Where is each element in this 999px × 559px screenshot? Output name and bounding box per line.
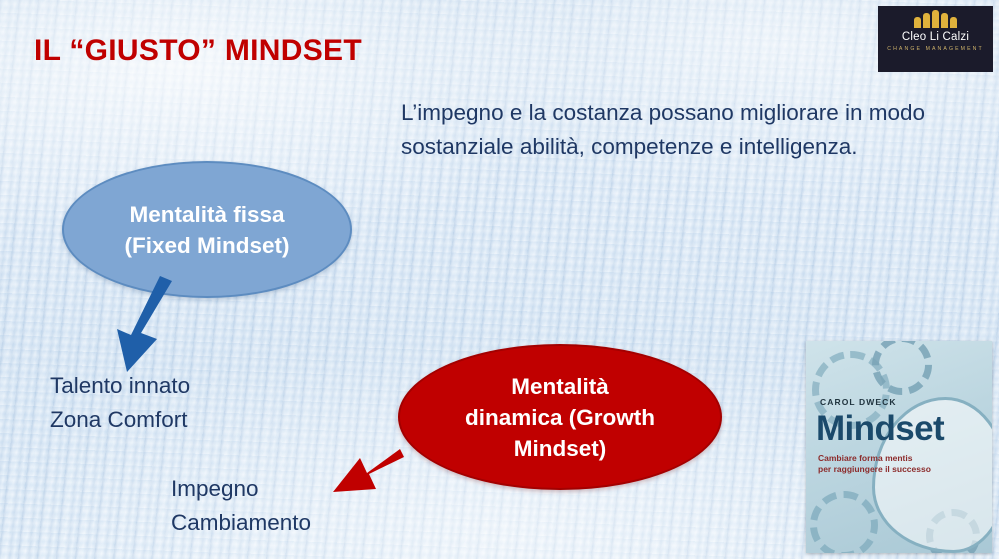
book-subtitle-line1: Cambiare forma mentis bbox=[818, 453, 912, 463]
fixed-trait-1: Talento innato bbox=[50, 369, 190, 403]
crown-crest-icon bbox=[914, 9, 957, 28]
book-title: Mindset bbox=[816, 409, 944, 449]
fixed-mindset-line2: (Fixed Mindset) bbox=[124, 230, 289, 261]
slide-canvas: IL “GIUSTO” MINDSET L’impegno e la costa… bbox=[0, 0, 999, 559]
book-cover-image: CAROL DWECK Mindset Cambiare forma menti… bbox=[806, 341, 992, 553]
growth-mindset-line2: dinamica (Growth bbox=[465, 402, 655, 433]
company-logo: Cleo Li Calzi CHANGE MANAGEMENT bbox=[878, 6, 993, 72]
book-author: CAROL DWECK bbox=[820, 397, 897, 407]
logo-name: Cleo Li Calzi bbox=[902, 31, 969, 43]
page-title: IL “GIUSTO” MINDSET bbox=[34, 34, 362, 68]
fixed-mindset-line1: Mentalità fissa bbox=[124, 199, 289, 230]
gear-icon bbox=[810, 491, 878, 553]
growth-mindset-traits: Impegno Cambiamento bbox=[171, 472, 311, 540]
logo-tagline: CHANGE MANAGEMENT bbox=[887, 46, 984, 52]
fixed-trait-2: Zona Comfort bbox=[50, 403, 190, 437]
growth-mindset-line3: Mindset) bbox=[465, 433, 655, 464]
growth-mindset-line1: Mentalità bbox=[465, 371, 655, 402]
body-paragraph: L’impegno e la costanza possano migliora… bbox=[401, 96, 946, 164]
fixed-mindset-shape: Mentalità fissa (Fixed Mindset) bbox=[62, 161, 352, 298]
growth-trait-2: Cambiamento bbox=[171, 506, 311, 540]
book-subtitle-line2: per raggiungere il successo bbox=[818, 464, 931, 474]
gear-icon bbox=[872, 341, 932, 395]
red-arrow-icon bbox=[333, 449, 404, 492]
growth-trait-1: Impegno bbox=[171, 472, 311, 506]
fixed-mindset-traits: Talento innato Zona Comfort bbox=[50, 369, 190, 437]
growth-mindset-shape: Mentalità dinamica (Growth Mindset) bbox=[398, 344, 722, 490]
